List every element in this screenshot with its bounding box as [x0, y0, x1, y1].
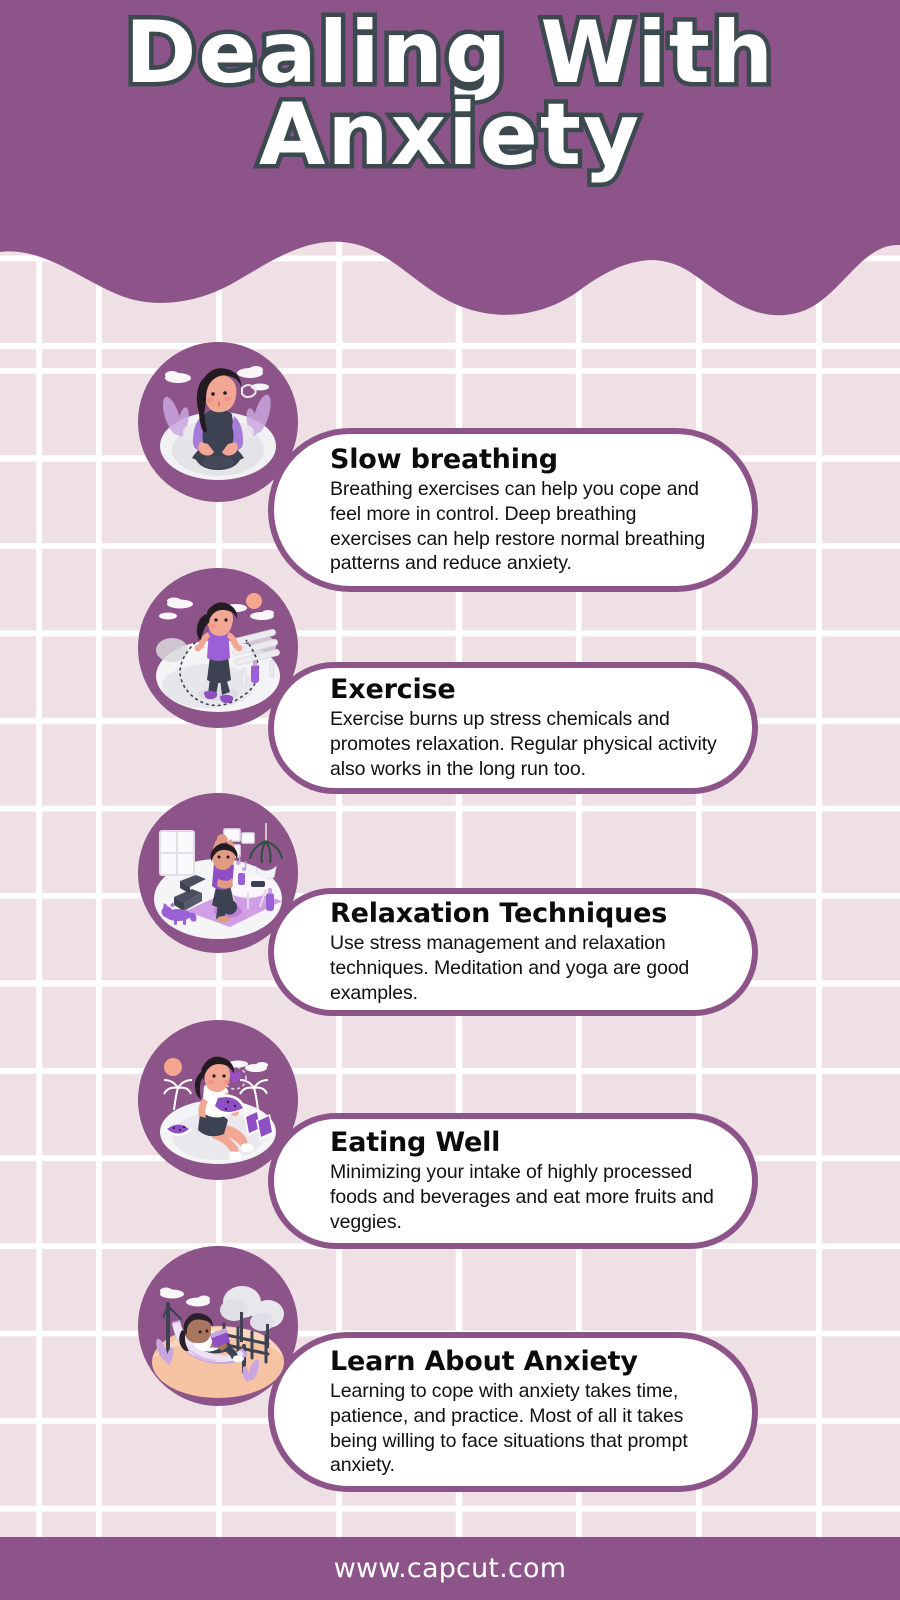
tip-body: Learning to cope with anxiety takes time…	[330, 1379, 718, 1479]
tip-body: Exercise burns up stress chemicals and p…	[330, 707, 718, 782]
tip-body: Minimizing your intake of highly process…	[330, 1160, 718, 1235]
title-block: Dealing With Anxiety	[0, 10, 900, 179]
page-title-line-2: Anxiety	[0, 92, 900, 180]
jump-rope-illustration	[138, 568, 298, 728]
tip-card-learn-about-anxiety: Learn About Anxiety Learning to cope wit…	[268, 1332, 758, 1492]
tip-icon-learn-about-anxiety	[138, 1246, 298, 1406]
tip-card-exercise: Exercise Exercise burns up stress chemic…	[268, 662, 758, 794]
reading-hammock-illustration	[138, 1246, 298, 1406]
tip-card-eating-well: Eating Well Minimizing your intake of hi…	[268, 1113, 758, 1249]
tip-title: Learn About Anxiety	[330, 1346, 718, 1377]
tip-card-slow-breathing: Slow breathing Breathing exercises can h…	[268, 428, 758, 592]
tip-title: Exercise	[330, 674, 718, 705]
header-banner: Dealing With Anxiety	[0, 0, 900, 330]
tip-card-relaxation-techniques: Relaxation Techniques Use stress managem…	[268, 888, 758, 1016]
tip-body: Use stress management and relaxation tec…	[330, 931, 718, 1006]
tip-body: Breathing exercises can help you cope an…	[330, 477, 718, 577]
tip-icon-exercise	[138, 568, 298, 728]
footer-bar: www.capcut.com	[0, 1537, 900, 1600]
meditation-illustration	[138, 342, 298, 502]
eating-watermelon-illustration	[138, 1020, 298, 1180]
tip-icon-relaxation	[138, 793, 298, 953]
infographic-poster: Dealing With Anxiety	[0, 0, 900, 1600]
tip-title: Eating Well	[330, 1127, 718, 1158]
tip-icon-eating-well	[138, 1020, 298, 1180]
tip-title: Relaxation Techniques	[330, 898, 718, 929]
yoga-pose-illustration	[138, 793, 298, 953]
footer-website[interactable]: www.capcut.com	[334, 1553, 566, 1584]
tip-title: Slow breathing	[330, 444, 718, 475]
tip-icon-meditation	[138, 342, 298, 502]
